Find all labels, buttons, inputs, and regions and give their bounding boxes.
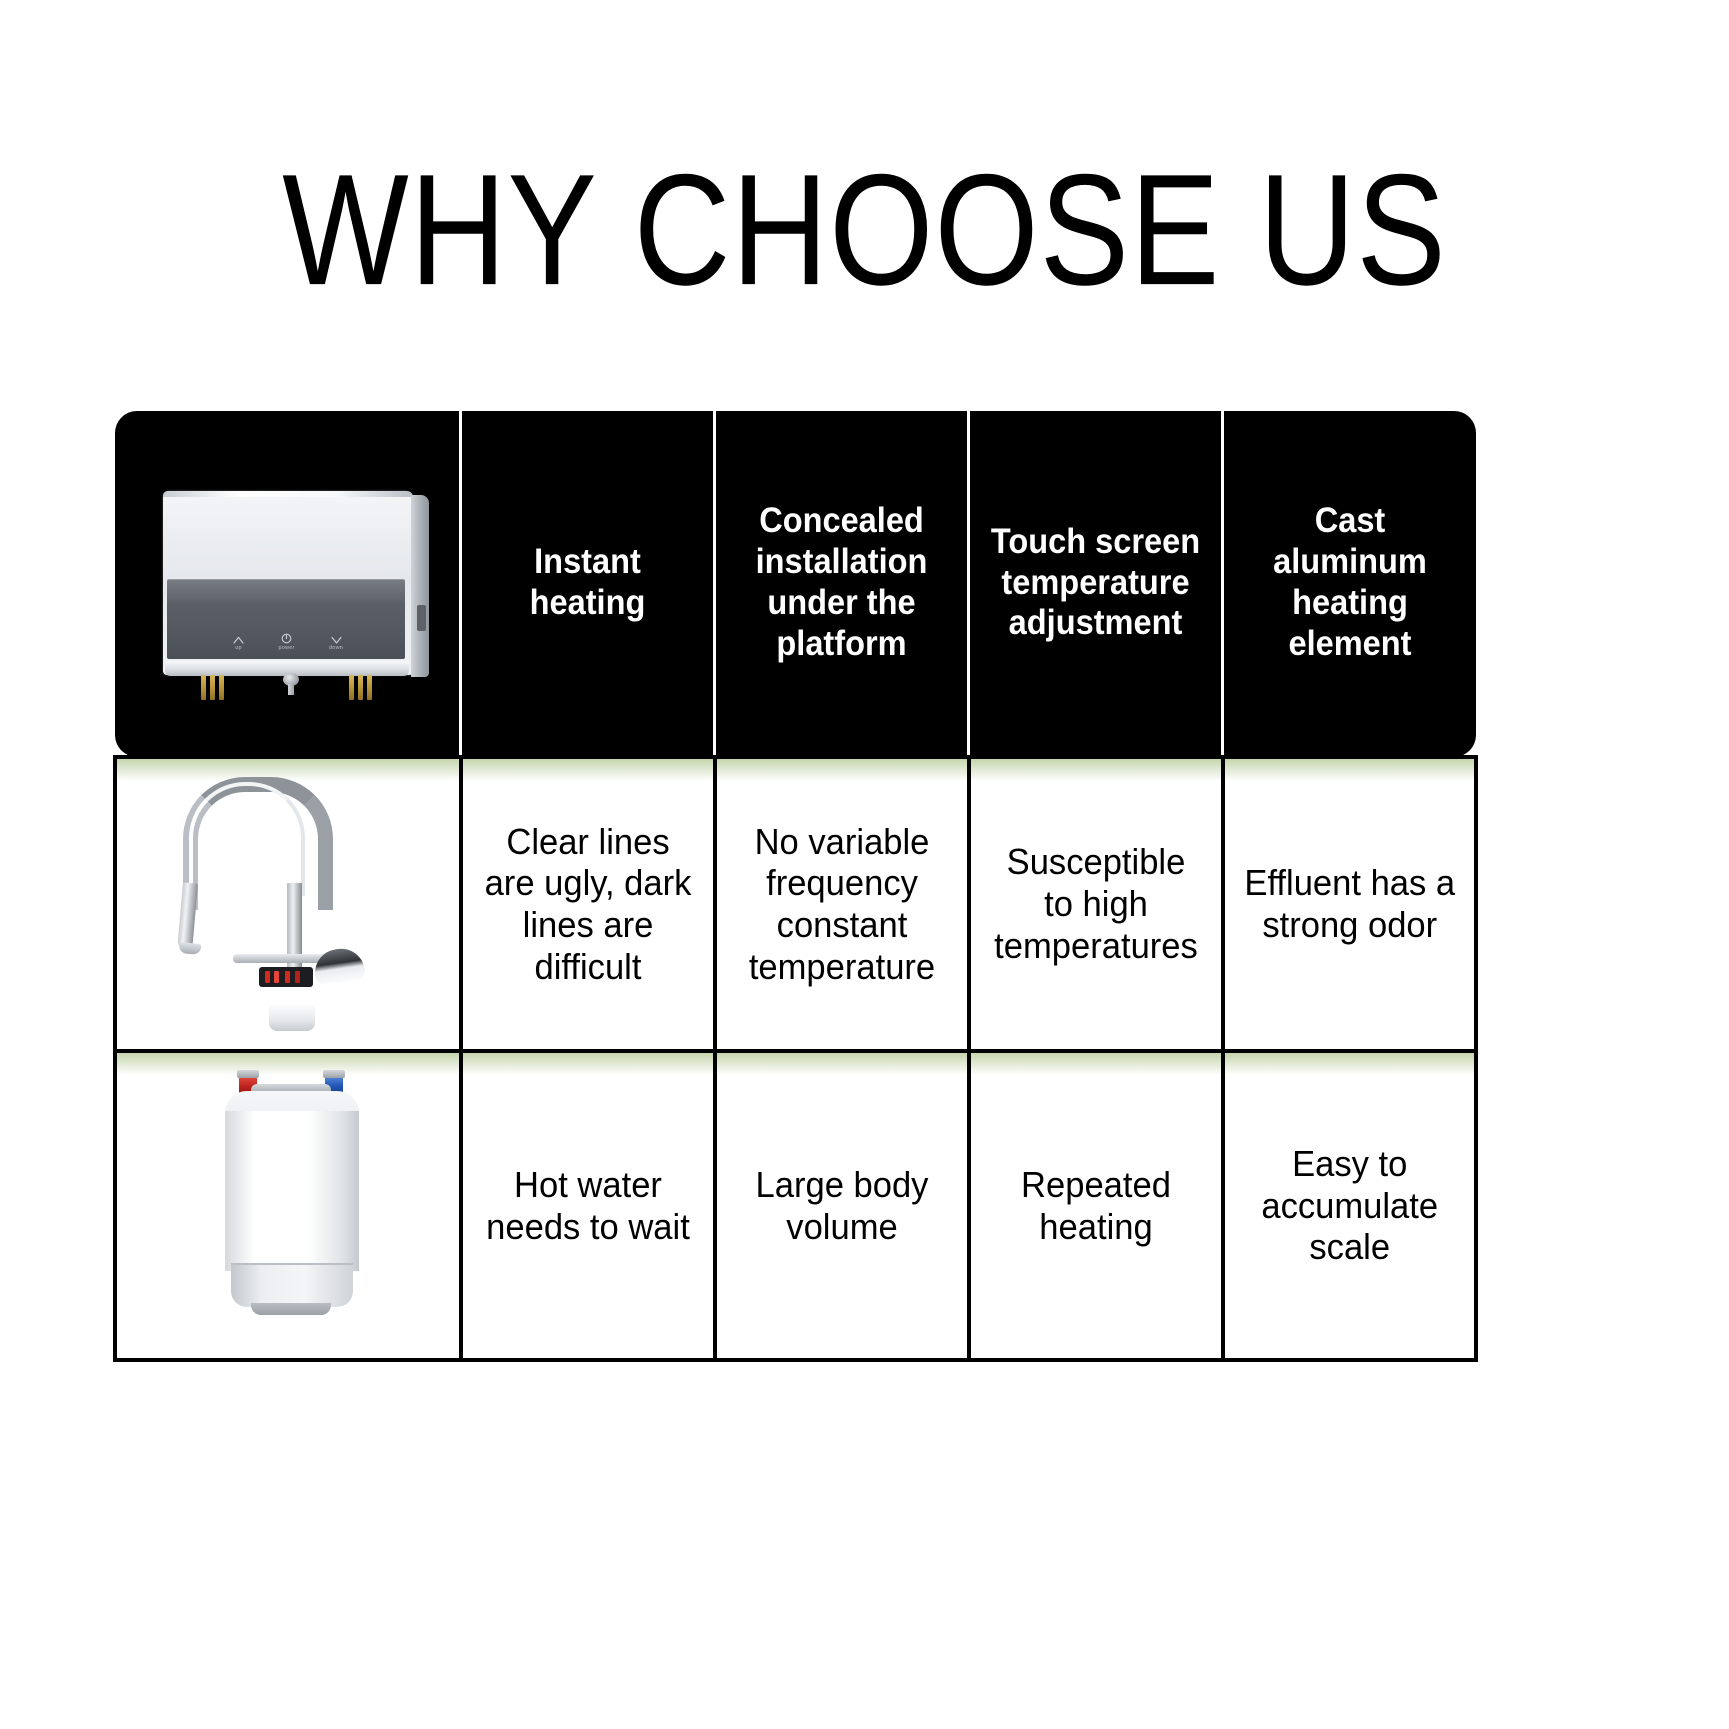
faucet-spout	[177, 882, 198, 949]
page-title: WHY CHOOSE US	[0, 152, 1729, 310]
why-choose-us-comparison-table: up power	[113, 411, 1478, 1362]
tank-drum	[225, 1111, 359, 1271]
tank-foot	[251, 1303, 331, 1315]
touch-key-up-label: up	[235, 646, 242, 652]
heater-inlet-fitting	[199, 675, 228, 700]
body-cell-large-body-volume: Large body volume	[715, 1051, 969, 1360]
heater-side-face	[411, 495, 429, 677]
faucet-arc-highlight	[189, 782, 305, 896]
faucet-spout-tip	[179, 942, 202, 955]
header-cell-concealed-installation: Concealed installation under the platfor…	[715, 411, 969, 757]
body-label-hot-water-wait: Hot water needs to wait	[468, 1164, 708, 1248]
body-cell-repeated-heating: Repeated heating	[969, 1051, 1223, 1360]
body-cell-clear-lines: Clear lines are ugly, dark lines are dif…	[461, 757, 715, 1051]
storage-water-tank-image	[217, 1075, 367, 1327]
faucet-base	[269, 1003, 315, 1031]
header-label-instant-heating: Instant heating	[471, 542, 704, 624]
header-cell-instant-heating: Instant heating	[461, 411, 715, 757]
heater-center-valve	[283, 673, 299, 695]
tank-image-cell	[115, 1051, 461, 1360]
header-label-touch-screen: Touch screen temperature adjustment	[979, 522, 1212, 645]
heater-panel-gloss	[167, 579, 405, 605]
header-label-cast-aluminum: Cast aluminum heating element	[1233, 501, 1467, 665]
faucet-image-cell	[115, 757, 461, 1051]
table-row-faucet-heater: Clear lines are ugly, dark lines are dif…	[115, 757, 1476, 1051]
heater-top-highlight	[163, 491, 413, 497]
heater-touch-controls: up power	[233, 633, 343, 651]
touch-key-power: power	[279, 633, 295, 651]
body-cell-hot-water-wait: Hot water needs to wait	[461, 1051, 715, 1360]
header-label-concealed-installation: Concealed installation under the platfor…	[725, 501, 958, 665]
body-cell-susceptible-high-temp: Susceptible to high temperatures	[969, 757, 1223, 1051]
header-cell-touch-screen: Touch screen temperature adjustment	[969, 411, 1223, 757]
faucet-handle	[312, 946, 366, 986]
body-label-clear-lines: Clear lines are ugly, dark lines are dif…	[468, 821, 708, 988]
touch-key-up: up	[233, 636, 244, 651]
body-label-accumulate-scale: Easy to accumulate scale	[1229, 1143, 1469, 1268]
body-label-susceptible-high-temp: Susceptible to high temperatures	[976, 841, 1216, 966]
tank-hot-port-nut	[237, 1070, 259, 1078]
touch-key-down: down	[329, 636, 343, 651]
body-cell-no-variable-frequency: No variable frequency constant temperatu…	[715, 757, 969, 1051]
faucet-temperature-display	[259, 967, 313, 987]
body-label-large-body-volume: Large body volume	[722, 1164, 962, 1248]
table-row-storage-tank: Hot water needs to wait Large body volum…	[115, 1051, 1476, 1360]
touch-key-power-label: power	[279, 646, 295, 652]
touch-key-down-label: down	[329, 646, 343, 652]
body-label-strong-odor: Effluent has a strong odor	[1229, 862, 1469, 946]
power-icon	[281, 633, 292, 644]
body-cell-accumulate-scale: Easy to accumulate scale	[1223, 1051, 1477, 1360]
body-label-repeated-heating: Repeated heating	[976, 1164, 1216, 1248]
body-label-no-variable-frequency: No variable frequency constant temperatu…	[722, 821, 962, 988]
header-cell-cast-aluminum: Cast aluminum heating element	[1223, 411, 1477, 757]
comparison-table-wrapper: up power	[113, 411, 1462, 1350]
heater-outlet-fitting	[347, 675, 376, 700]
chevron-down-icon	[331, 636, 342, 644]
heater-side-port	[417, 605, 426, 631]
tank-bottom-cap	[231, 1265, 353, 1307]
our-product-image-cell: up power	[115, 411, 461, 757]
table-row-our-product: up power	[115, 411, 1476, 757]
body-cell-strong-odor: Effluent has a strong odor	[1223, 757, 1477, 1051]
tankless-water-heater-image: up power	[157, 483, 429, 701]
tank-cold-port-nut	[323, 1070, 345, 1078]
chevron-up-icon	[233, 636, 244, 644]
chrome-gooseneck-faucet-image	[169, 771, 385, 1033]
valve-stem	[288, 684, 294, 695]
